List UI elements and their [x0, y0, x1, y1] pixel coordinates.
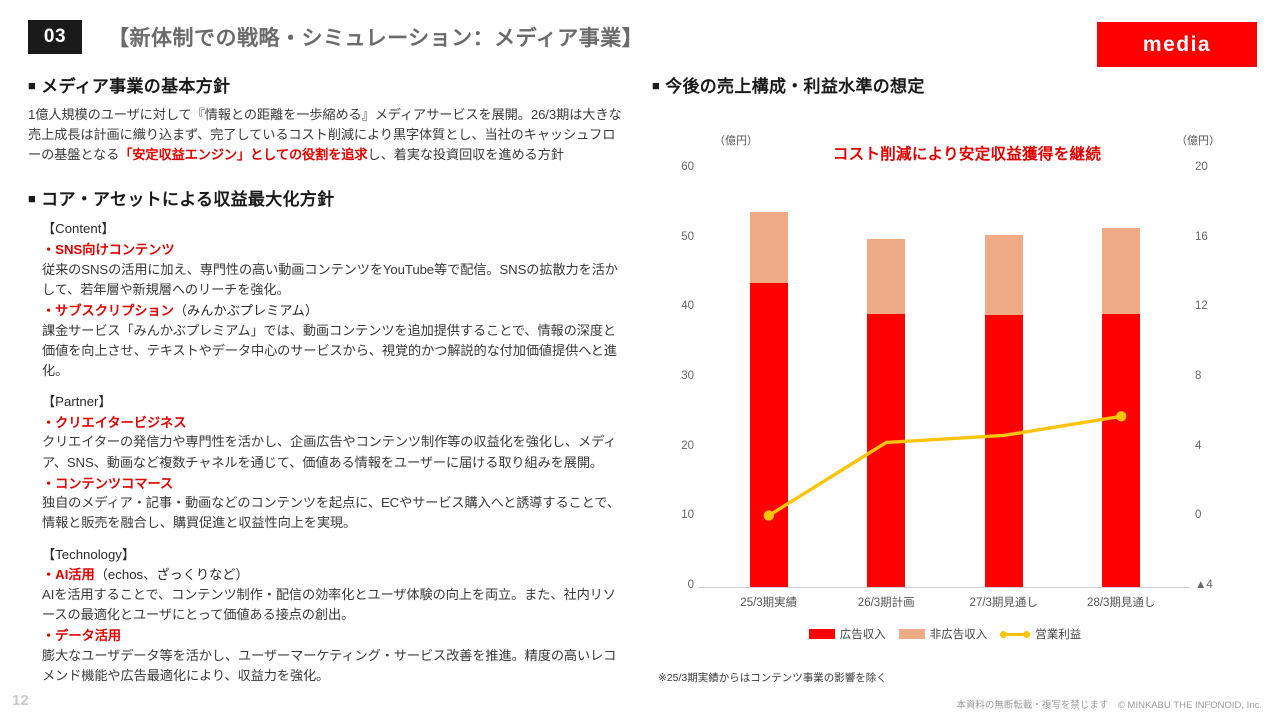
asset-item: ・SNS向けコンテンツ 従来のSNSの活用に加え、専門性の高い動画コンテンツをY…: [42, 239, 628, 300]
right-axis-tick: 4: [1195, 440, 1229, 452]
group-bracket-label: 【Content】: [42, 219, 628, 239]
asset-item: ・クリエイタービジネス クリエイターの発信力や専門性を活かし、企画広告やコンテン…: [42, 412, 628, 473]
x-axis-label: 27/3期見通し: [944, 594, 1064, 610]
right-column: ■今後の売上構成・利益水準の想定: [652, 72, 1272, 105]
asset-item: ・AI活用（echos、ざっくりなど） AIを活用することで、コンテンツ制作・配…: [42, 564, 628, 625]
bar-segment-ad-revenue: [985, 315, 1023, 587]
right-axis-tick: ▲4: [1195, 579, 1229, 591]
legend-swatch-non-ad-revenue: [899, 629, 925, 639]
bar-segment-ad-revenue: [750, 283, 788, 587]
page-number: 12: [12, 692, 29, 709]
right-axis-tick: 20: [1195, 161, 1229, 173]
group-bracket-label: 【Technology】: [42, 545, 628, 565]
asset-item-title: ・データ活用: [42, 628, 121, 643]
asset-item-title: ・AI活用: [42, 567, 95, 582]
legend-marker-dot: [1000, 631, 1007, 638]
asset-group: 【Partner】 ・クリエイタービジネス クリエイターの発信力や専門性を活かし…: [42, 392, 628, 534]
asset-item: ・コンテンツコマース 独自のメディア・記事・動画などのコンテンツを起点に、ECや…: [42, 473, 628, 534]
legend-swatch-ad-revenue: [809, 629, 835, 639]
policy-paragraph: 1億人規模のユーザに対して『情報との距離を一歩縮める』メディアサービスを展開。2…: [28, 105, 628, 165]
right-axis-unit-label: （億円）: [1176, 132, 1220, 148]
x-axis-label: 28/3期見通し: [1061, 594, 1181, 610]
legend-label-operating-profit: 営業利益: [1035, 626, 1081, 642]
bar-segment-non-ad-revenue: [985, 235, 1023, 315]
left-axis-tick: 50: [660, 231, 694, 243]
section-heading-policy-label: メディア事業の基本方針: [41, 77, 230, 96]
operating-profit-line: [769, 416, 1122, 515]
bar-segment-non-ad-revenue: [750, 212, 788, 283]
group-bracket-label: 【Partner】: [42, 392, 628, 412]
right-axis-tick: 0: [1195, 509, 1229, 521]
policy-text-highlight: 「安定収益エンジン」としての役割を追求: [119, 147, 367, 162]
asset-item-title: ・コンテンツコマース: [42, 476, 173, 491]
left-axis-tick: 10: [660, 509, 694, 521]
left-axis-unit-label: （億円）: [714, 132, 758, 148]
section-heading-chart-label: 今後の売上構成・利益水準の想定: [665, 77, 925, 96]
bar-column: [867, 169, 905, 587]
left-axis-tick: 60: [660, 161, 694, 173]
asset-item-title: ・SNS向けコンテンツ: [42, 242, 175, 257]
asset-group: 【Technology】 ・AI活用（echos、ざっくりなど） AIを活用する…: [42, 545, 628, 687]
asset-item-body: クリエイターの発信力や専門性を活かし、企画広告やコンテンツ制作等の収益化を強化し…: [42, 432, 628, 472]
asset-item-title: ・サブスクリプション: [42, 303, 174, 318]
square-bullet-icon: ■: [28, 191, 36, 206]
bar-segment-ad-revenue: [1102, 314, 1140, 587]
right-axis-tick: 16: [1195, 231, 1229, 243]
bar-column: [750, 169, 788, 587]
asset-item-body: 独自のメディア・記事・動画などのコンテンツを起点に、ECやサービス購入へと誘導す…: [42, 493, 628, 533]
section-heading-policy: ■メディア事業の基本方針: [28, 72, 628, 97]
legend-swatch-operating-profit: [1000, 629, 1030, 639]
policy-text-part2: し、着実な投資回収を進める方針: [367, 147, 563, 162]
asset-item-title: ・クリエイタービジネス: [42, 415, 187, 430]
asset-item-title-suffix: （みんかぶプレミアム）: [174, 303, 318, 318]
chart-plot-area: [710, 169, 1180, 587]
asset-item: ・データ活用 膨大なユーザデータ等を活かし、ユーザーマーケティング・サービス改善…: [42, 625, 628, 686]
asset-item-body: 従来のSNSの活用に加え、専門性の高い動画コンテンツをYouTube等で配信。S…: [42, 260, 628, 300]
section-heading-chart: ■今後の売上構成・利益水準の想定: [652, 72, 1272, 97]
left-axis-tick: 40: [660, 300, 694, 312]
right-axis-tick: 12: [1195, 300, 1229, 312]
asset-groups: 【Content】 ・SNS向けコンテンツ 従来のSNSの活用に加え、専門性の高…: [42, 219, 628, 686]
chart-callout-note: コスト削減により安定収益獲得を継続: [802, 142, 1132, 164]
legend-item-operating-profit: 営業利益: [1000, 626, 1081, 642]
page-title: 【新体制での戦略・シミュレーション：メディア事業】: [108, 22, 643, 52]
bar-column: [985, 169, 1023, 587]
section-number-badge: 03: [28, 20, 82, 54]
copyright-notice: 本資料の無断転載・複写を禁じます © MINKABU THE INFONOID,…: [956, 697, 1262, 711]
left-column: ■メディア事業の基本方針 1億人規模のユーザに対して『情報との距離を一歩縮める』…: [28, 72, 628, 686]
asset-item-body: 膨大なユーザデータ等を活かし、ユーザーマーケティング・サービス改善を推進。精度の…: [42, 646, 628, 686]
asset-item-body: AIを活用することで、コンテンツ制作・配信の効率化とユーザ体験の向上を両立。また…: [42, 585, 628, 625]
chart-footnote: ※25/3期実績からはコンテンツ事業の影響を除く: [658, 670, 887, 685]
asset-group: 【Content】 ・SNS向けコンテンツ 従来のSNSの活用に加え、専門性の高…: [42, 219, 628, 381]
asset-item-title-suffix: （echos、ざっくりなど）: [95, 567, 249, 582]
x-axis-label: 25/3期実績: [709, 594, 829, 610]
bar-column: [1102, 169, 1140, 587]
legend-item-ad-revenue: 広告収入: [809, 626, 886, 642]
legend-item-non-ad-revenue: 非広告収入: [899, 626, 988, 642]
chart-legend: 広告収入 非広告収入 営業利益: [710, 626, 1180, 642]
section-heading-assets: ■コア・アセットによる収益最大化方針: [28, 185, 628, 210]
legend-marker-dot: [1023, 631, 1030, 638]
left-axis-tick: 20: [660, 440, 694, 452]
x-axis-baseline: [698, 587, 1190, 588]
slide-root: 03 【新体制での戦略・シミュレーション：メディア事業】 media ■メディア…: [0, 0, 1280, 720]
bar-segment-non-ad-revenue: [1102, 228, 1140, 314]
legend-label-non-ad-revenue: 非広告収入: [930, 626, 988, 642]
square-bullet-icon: ■: [652, 78, 660, 93]
x-axis-label: 26/3期計画: [826, 594, 946, 610]
left-axis-tick: 0: [660, 579, 694, 591]
brand-badge-media: media: [1097, 22, 1257, 67]
right-axis-tick: 8: [1195, 370, 1229, 382]
bar-segment-ad-revenue: [867, 314, 905, 587]
left-axis-tick: 30: [660, 370, 694, 382]
asset-item: ・サブスクリプション（みんかぶプレミアム） 課金サービス「みんかぶプレミアム」で…: [42, 300, 628, 381]
bar-segment-non-ad-revenue: [867, 239, 905, 314]
revenue-profit-chart: （億円） （億円） コスト削減により安定収益獲得を継続 605040302010…: [652, 120, 1272, 680]
legend-label-ad-revenue: 広告収入: [840, 626, 886, 642]
section-heading-assets-label: コア・アセットによる収益最大化方針: [41, 190, 334, 209]
asset-item-body: 課金サービス「みんかぶプレミアム」では、動画コンテンツを追加提供することで、情報…: [42, 321, 628, 381]
square-bullet-icon: ■: [28, 78, 36, 93]
